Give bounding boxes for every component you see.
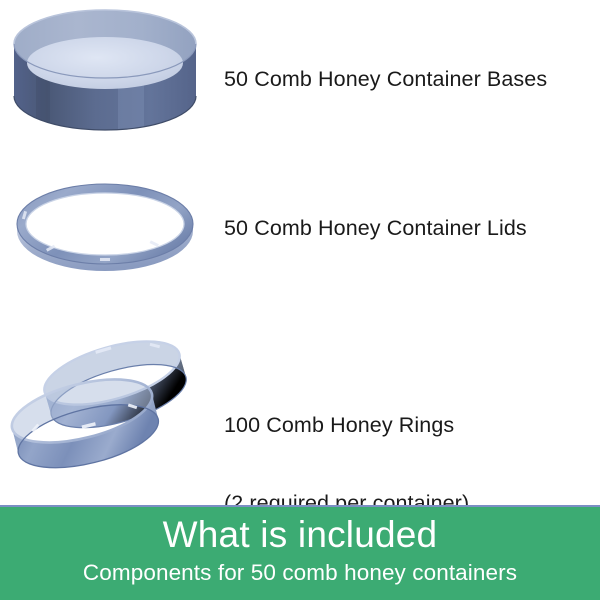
row-label-lids: 50 Comb Honey Container Lids (224, 215, 527, 241)
product-row-rings: 100 Comb Honey Rings (2 required per con… (0, 315, 600, 505)
row-label-bases: 50 Comb Honey Container Bases (224, 66, 547, 92)
banner-subtitle: Components for 50 comb honey containers (0, 557, 600, 587)
included-banner: What is included Components for 50 comb … (0, 505, 600, 600)
banner-title: What is included (0, 507, 600, 557)
comb-honey-rings-illustration (0, 315, 210, 505)
comb-honey-container-lid-illustration (0, 170, 210, 315)
product-row-bases: 50 Comb Honey Container Bases (0, 0, 600, 170)
product-row-lids: 50 Comb Honey Container Lids (0, 170, 600, 315)
row-label-rings-line1: 100 Comb Honey Rings (224, 412, 469, 438)
infographic-page: 50 Comb Honey Container Bases (0, 0, 600, 600)
comb-honey-container-base-illustration (0, 0, 210, 170)
